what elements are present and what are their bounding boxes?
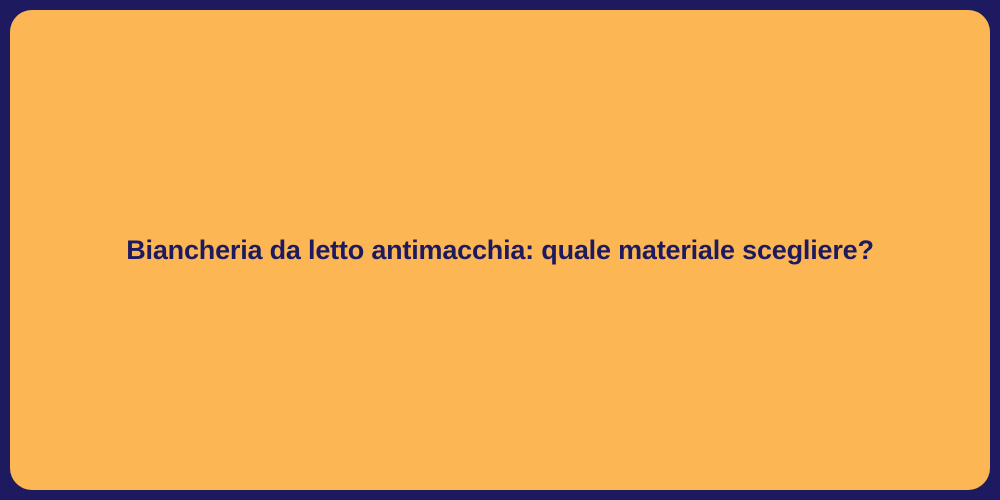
banner-title: Biancheria da letto antimacchia: quale m…	[86, 234, 914, 266]
banner-card: Biancheria da letto antimacchia: quale m…	[10, 10, 990, 490]
banner-frame: Biancheria da letto antimacchia: quale m…	[0, 0, 1000, 500]
